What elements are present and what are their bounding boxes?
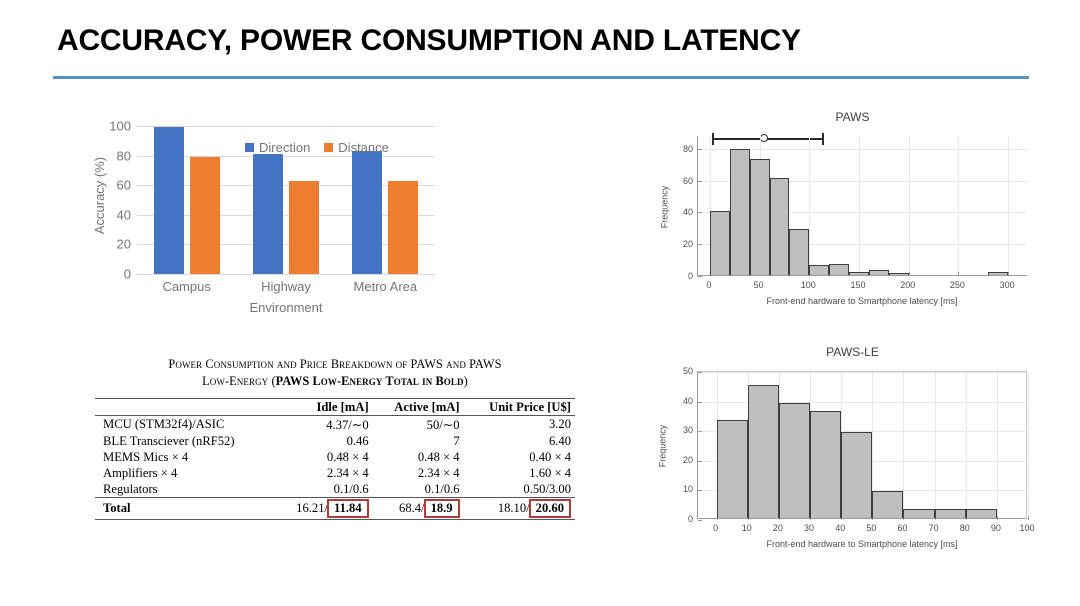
histogram-bar [829, 264, 849, 275]
bar-chart-y-tick: 100 [109, 119, 131, 134]
table-caption-line2: Low-Energy (PAWS Low-Energy Total in Bol… [202, 374, 468, 388]
cell-price: 3.20 [464, 416, 575, 434]
paws-le-histogram-plot-area [697, 371, 1027, 519]
title-divider [53, 76, 1029, 79]
error-bar-mean-marker [760, 134, 768, 142]
hist-y-tick-label: 20 [671, 239, 693, 249]
histogram-bar [789, 229, 809, 275]
hist-x-tick-mark [909, 272, 910, 276]
hist-x-tick-label: 0 [706, 280, 711, 290]
hist-x-tick-label: 20 [773, 523, 783, 533]
hist-x-tick-mark [1028, 516, 1029, 520]
hist-y-tick-label: 60 [671, 176, 693, 186]
bar-chart-x-tick: Highway [247, 279, 325, 294]
paws-error-bar-annotation [712, 133, 824, 145]
bar-chart-x-tick: Campus [148, 279, 226, 294]
bar-chart-y-tick: 0 [124, 267, 131, 282]
hist-x-tick-label: 0 [713, 523, 718, 533]
paws-le-histogram: PAWS-LE Frequency Front-end hardware to … [655, 345, 1050, 555]
paws-le-histogram-y-axis-label: Frequency [657, 425, 667, 468]
hist-x-tick-label: 80 [960, 523, 970, 533]
cell-component: MCU (STM32f4)/ASIC [95, 416, 273, 434]
table-total-row: Total16.21/11.8468.4/18.918.10/20.60 [95, 498, 575, 520]
table-row: Amplifiers × 42.34 × 42.34 × 41.60 × 4 [95, 465, 575, 481]
histogram-bar [966, 509, 997, 518]
bar-chart-y-axis-label: Accuracy (%) [92, 157, 107, 234]
hist-y-tick-label: 50 [671, 366, 693, 376]
cell-active: 0.48 × 4 [373, 449, 464, 465]
accuracy-bar-chart: Accuracy (%) 020406080100CampusHighwayMe… [95, 126, 435, 321]
paws-le-histogram-x-axis-label: Front-end hardware to Smartphone latency… [697, 539, 1027, 549]
hist-x-tick-label: 300 [1000, 280, 1015, 290]
cell-total-active-highlighted-value: 18.9 [424, 499, 460, 519]
cell-active: 7 [373, 433, 464, 449]
hist-gridline-vertical [1008, 136, 1009, 275]
cell-component: Amplifiers × 4 [95, 465, 273, 481]
cell-idle: 2.34 × 4 [273, 465, 373, 481]
histogram-bar [889, 273, 909, 275]
hist-y-tick-label: 0 [671, 271, 693, 281]
legend-label-direction: Direction [259, 140, 310, 155]
hist-x-tick-label: 250 [950, 280, 965, 290]
hist-gridline-vertical [903, 372, 904, 518]
hist-y-tick-mark [698, 149, 702, 150]
histogram-bar [935, 509, 966, 518]
hist-y-tick-label: 30 [671, 425, 693, 435]
power-consumption-table: Idle [mA] Active [mA] Unit Price [U$] MC… [95, 398, 575, 520]
cell-component: BLE Transciever (nRF52) [95, 433, 273, 449]
cell-total-price-paws-value: 18.10/ [498, 501, 530, 515]
table-caption-line1: Power Consumption and Price Breakdown of… [168, 357, 501, 371]
hist-y-tick-label: 40 [671, 396, 693, 406]
histogram-bar [849, 272, 869, 275]
hist-x-tick-label: 70 [929, 523, 939, 533]
histogram-bar [841, 432, 872, 518]
histogram-bar [869, 270, 889, 275]
bar-chart-x-axis-label: Environment [137, 300, 435, 315]
bar-direction-highway [253, 154, 283, 274]
hist-y-tick-mark [698, 276, 702, 277]
histogram-bar [809, 265, 829, 275]
col-header-price: Unit Price [U$] [464, 399, 575, 416]
hist-x-tick-label: 50 [754, 280, 764, 290]
paws-histogram: PAWS Frequency Front-end hardware to Sma… [655, 110, 1050, 310]
cell-active: 50/∼0 [373, 416, 464, 434]
page-title: ACCURACY, POWER CONSUMPTION AND LATENCY [57, 24, 801, 58]
hist-y-tick-mark [698, 181, 702, 182]
histogram-bar [770, 178, 790, 275]
table-row: Regulators0.1/0.60.1/0.60.50/3.00 [95, 481, 575, 498]
cell-total-price: 18.10/20.60 [464, 498, 575, 520]
bar-distance-campus [190, 157, 220, 274]
bar-chart-y-tick: 60 [117, 178, 131, 193]
hist-gridline-vertical [809, 136, 810, 275]
cell-total-active-paws-value: 68.4/ [399, 501, 425, 515]
bar-group [148, 126, 226, 274]
power-consumption-table-block: Power Consumption and Price Breakdown of… [95, 356, 575, 520]
hist-x-tick-label: 40 [835, 523, 845, 533]
bar-direction-metro-area [352, 151, 382, 274]
histogram-bar [810, 411, 841, 518]
hist-y-tick-label: 10 [671, 484, 693, 494]
cell-total-active: 68.4/18.9 [373, 498, 464, 520]
slide-canvas: ACCURACY, POWER CONSUMPTION AND LATENCY … [0, 0, 1080, 606]
paws-le-histogram-title: PAWS-LE [655, 345, 1050, 359]
hist-x-tick-label: 150 [851, 280, 866, 290]
legend-swatch-direction [245, 143, 254, 152]
hist-y-tick-label: 0 [671, 514, 693, 524]
histogram-bar [748, 385, 779, 518]
histogram-bar [779, 403, 810, 518]
bar-distance-metro-area [388, 181, 418, 274]
histogram-bar [730, 149, 750, 275]
table-row: BLE Transciever (nRF52)0.4676.40 [95, 433, 575, 449]
table-body: MCU (STM32f4)/ASIC4.37/∼050/∼03.20BLE Tr… [95, 416, 575, 520]
hist-y-tick-mark [698, 372, 702, 373]
cell-idle: 0.1/0.6 [273, 481, 373, 498]
histogram-bar [903, 509, 934, 518]
hist-y-tick-label: 20 [671, 455, 693, 465]
hist-x-tick-label: 60 [897, 523, 907, 533]
hist-gridline-vertical [909, 136, 910, 275]
bar-chart-legend: Direction Distance [245, 140, 389, 155]
histogram-bar [988, 272, 1008, 275]
error-bar-line [712, 138, 824, 140]
col-header-component [95, 399, 273, 416]
cell-total-price-highlighted-value: 20.60 [529, 499, 571, 519]
hist-y-tick-mark [698, 461, 702, 462]
cell-component: MEMS Mics × 4 [95, 449, 273, 465]
hist-gridline-vertical [966, 372, 967, 518]
hist-gridline-vertical [935, 372, 936, 518]
error-bar-cap-left [712, 133, 714, 145]
hist-y-tick-label: 80 [671, 144, 693, 154]
bar-chart-x-tick: Metro Area [346, 279, 424, 294]
bar-chart-y-tick: 80 [117, 148, 131, 163]
cell-idle: 0.48 × 4 [273, 449, 373, 465]
hist-gridline-vertical [859, 136, 860, 275]
hist-y-tick-mark [698, 212, 702, 213]
legend-item-direction: Direction [245, 140, 310, 155]
paws-histogram-x-axis-label: Front-end hardware to Smartphone latency… [697, 296, 1027, 306]
histogram-bar [717, 420, 748, 518]
legend-swatch-distance [324, 143, 333, 152]
histogram-bar [710, 211, 730, 275]
cell-idle: 4.37/∼0 [273, 416, 373, 434]
cell-price: 0.50/3.00 [464, 481, 575, 498]
table-header-row: Idle [mA] Active [mA] Unit Price [U$] [95, 399, 575, 416]
hist-y-tick-mark [698, 244, 702, 245]
bar-chart-y-tick: 40 [117, 207, 131, 222]
legend-item-distance: Distance [324, 140, 389, 155]
hist-y-tick-mark [698, 402, 702, 403]
cell-price: 0.40 × 4 [464, 449, 575, 465]
cell-component: Regulators [95, 481, 273, 498]
hist-gridline-vertical [997, 372, 998, 518]
hist-x-tick-label: 10 [742, 523, 752, 533]
hist-x-tick-label: 200 [900, 280, 915, 290]
hist-x-tick-label: 50 [866, 523, 876, 533]
cell-active: 0.1/0.6 [373, 481, 464, 498]
hist-y-tick-mark [698, 490, 702, 491]
hist-gridline-vertical [958, 136, 959, 275]
hist-y-tick-label: 40 [671, 207, 693, 217]
hist-x-tick-label: 30 [804, 523, 814, 533]
histogram-bar [750, 159, 770, 275]
cell-total-idle-highlighted-value: 11.84 [327, 499, 369, 519]
hist-x-tick-mark [958, 272, 959, 276]
paws-histogram-plot-area [697, 136, 1027, 276]
cell-total-idle-paws-value: 16.21/ [296, 501, 328, 515]
hist-gridline-vertical [1028, 372, 1029, 518]
table-head: Idle [mA] Active [mA] Unit Price [U$] [95, 399, 575, 416]
cell-total-label: Total [95, 498, 273, 520]
legend-label-distance: Distance [338, 140, 389, 155]
col-header-idle: Idle [mA] [273, 399, 373, 416]
hist-x-tick-label: 90 [991, 523, 1001, 533]
paws-histogram-title: PAWS [655, 110, 1050, 124]
error-bar-cap-right [822, 133, 824, 145]
paws-histogram-y-axis-label: Frequency [659, 186, 669, 229]
cell-active: 2.34 × 4 [373, 465, 464, 481]
bar-chart-y-tick: 20 [117, 237, 131, 252]
cell-total-idle: 16.21/11.84 [273, 498, 373, 520]
hist-x-tick-mark [997, 516, 998, 520]
hist-y-tick-mark [698, 520, 702, 521]
histogram-bar [872, 491, 903, 518]
bar-chart-gridline [137, 274, 435, 275]
bar-direction-campus [154, 127, 184, 274]
col-header-active: Active [mA] [373, 399, 464, 416]
table-caption: Power Consumption and Price Breakdown of… [95, 356, 575, 389]
hist-gridline-horizontal [698, 372, 1026, 373]
cell-idle: 0.46 [273, 433, 373, 449]
hist-x-tick-label: 100 [1019, 523, 1034, 533]
hist-x-tick-label: 100 [801, 280, 816, 290]
bar-distance-highway [289, 181, 319, 274]
hist-x-tick-mark [1008, 272, 1009, 276]
cell-price: 1.60 × 4 [464, 465, 575, 481]
table-row: MCU (STM32f4)/ASIC4.37/∼050/∼03.20 [95, 416, 575, 434]
cell-price: 6.40 [464, 433, 575, 449]
hist-y-tick-mark [698, 431, 702, 432]
table-row: MEMS Mics × 40.48 × 40.48 × 40.40 × 4 [95, 449, 575, 465]
